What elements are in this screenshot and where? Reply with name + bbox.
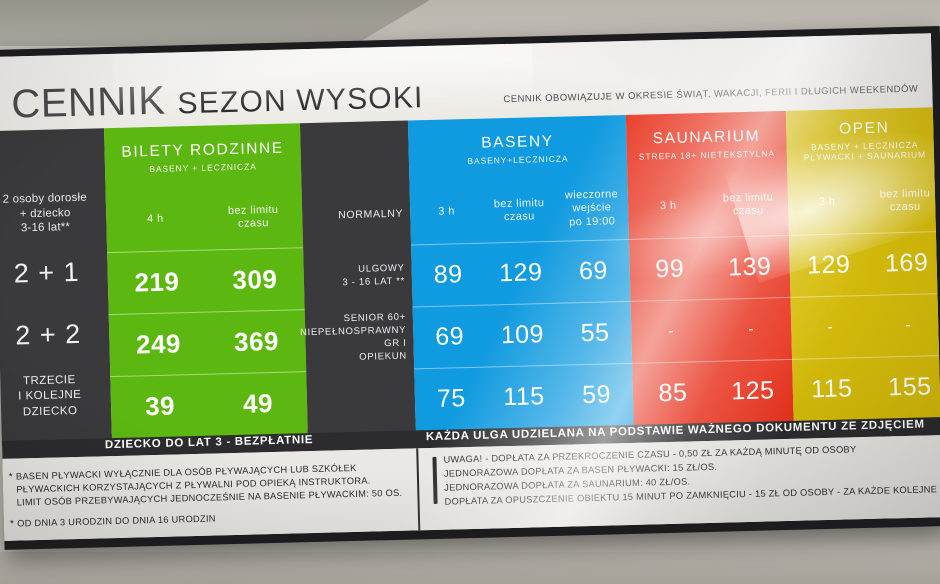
family-row-label-text: TRZECIE I KOLEJNE DZIECKO <box>18 373 82 421</box>
section-open: OPEN BASENY + LECZNICZA PŁYWACKI + SAUNA… <box>786 107 940 421</box>
label-line: NORMALNY <box>338 207 403 223</box>
subcol-line: czasu <box>504 210 535 224</box>
asterisk-icon: * <box>10 517 14 530</box>
price-board-frame: CENNIK SEZON WYSOKI CENNIK OBOWIĄZUJE W … <box>0 26 940 550</box>
label-block: ULGOWY 3 - 16 LAT ** <box>342 263 405 290</box>
price-cell: 129 <box>484 258 557 289</box>
open-title: OPEN <box>839 119 890 138</box>
wall-lower <box>0 552 940 584</box>
subcol-line: wieczorne <box>565 188 618 203</box>
table-row: - - <box>791 293 940 359</box>
subcol-line: wejście <box>572 202 611 216</box>
label-line: 3 - 16 LAT ** <box>342 276 405 289</box>
price-grid: 2 osoby dorosłe + dziecko 3-16 lat** 2 +… <box>0 107 940 437</box>
family-criteria-line-3: 3-16 lat** <box>21 221 71 237</box>
saunarium-price-rows: 99 139 - - 85 125 <box>629 235 794 425</box>
label-line: ULGOWY <box>358 263 405 275</box>
family-row-label-text: 2 + 2 <box>15 318 82 351</box>
family-criteria-header: 2 osoby dorosłe + dziecko 3-16 lat** <box>0 184 103 243</box>
tariff-row-label-ulgowy: ULGOWY 3 - 16 LAT ** <box>303 244 413 309</box>
family-label-box: 2 osoby dorosłe + dziecko 3-16 lat** 2 +… <box>0 184 108 437</box>
price-cell: 219 <box>108 266 207 299</box>
label-line: OPIEKUN <box>359 350 407 362</box>
label-line: GR I <box>384 338 407 350</box>
footnote-text: BASEN PŁYWACKI WYŁĄCZNIE DLA OSÓB PŁYWAJ… <box>16 461 403 510</box>
subcol-line: bez limitu <box>228 203 279 218</box>
footnote-item: * BASEN PŁYWACKI WYŁĄCZNIE DLA OSÓB PŁYW… <box>9 461 410 511</box>
price-cell: 369 <box>207 325 306 358</box>
price-cell: 249 <box>109 328 208 361</box>
table-row: 69 109 55 <box>413 301 632 368</box>
price-cell: 99 <box>629 254 710 285</box>
open-header: OPEN BASENY + LECZNICZA PŁYWACKI + SAUNA… <box>786 107 940 173</box>
validity-note: CENNIK OBOWIĄZUJE W OKRESIE ŚWIĄT, WAKAC… <box>503 84 918 112</box>
saunarium-subcol-unlimited: bez limitu czasu <box>707 173 789 237</box>
saunarium-header: SAUNARIUM STREFA 18+ NIETEKSTYLNA <box>626 111 788 177</box>
saunarium-subcol-3h: 3 h <box>627 175 709 239</box>
tariff-label-column: NORMALNY ULGOWY 3 - 16 LAT ** SENIOR 60+… <box>300 120 416 433</box>
subcol-line: 3 h <box>660 200 677 214</box>
table-row: 99 139 <box>629 235 791 301</box>
price-cell: 55 <box>558 318 631 349</box>
label-line: TRZECIE <box>23 374 76 387</box>
surcharge-list: UWAGA! - DOPŁATA ZA PRZEKROCZENIE CZASU … <box>430 440 940 510</box>
table-row: 89 129 69 <box>411 239 630 306</box>
label-line: SENIOR 60+ <box>344 312 406 325</box>
label-line: I KOLEJNE <box>18 389 82 403</box>
price-cell: 59 <box>560 380 633 411</box>
baseny-subcol-evening: wieczorne wejście po 19:00 <box>555 177 629 241</box>
footnote-line: * OD DNIA 3 URODZIN DO DNIA 16 URODZIN <box>10 507 410 530</box>
price-cell: - <box>711 319 791 339</box>
table-row: 39 49 <box>110 371 308 438</box>
saunarium-subtitle: STREFA 18+ NIETEKSTYLNA <box>639 148 775 161</box>
subcol-line: po 19:00 <box>569 215 615 230</box>
table-row: 129 169 <box>789 231 940 297</box>
family-section-title: BILETY RODZINNE <box>121 139 284 161</box>
open-subtitle-2: PŁYWACKI + SAUNARIUM <box>804 149 927 162</box>
subcol-line: bez limitu <box>494 197 545 212</box>
table-row: 115 155 <box>792 355 940 421</box>
page-subtitle: SEZON WYSOKI <box>177 83 424 120</box>
footnote-item: * OD DNIA 3 URODZIN DO DNIA 16 URODZIN <box>10 507 410 530</box>
family-criteria-line-2: + dziecko <box>20 206 71 222</box>
open-subcol-3h: 3 h <box>787 171 867 235</box>
baseny-subcol-unlimited: bez limitu czasu <box>482 179 556 243</box>
family-row-label-1: 2 + 2 <box>0 302 106 367</box>
baseny-title: BASENY <box>481 132 554 152</box>
family-criteria-line-1: 2 osoby dorosłe <box>2 190 87 207</box>
price-cell: 75 <box>415 384 488 415</box>
footnote-line: * BASEN PŁYWACKI WYŁĄCZNIE DLA OSÓB PŁYW… <box>9 461 410 511</box>
page-title: CENNIK <box>11 81 166 125</box>
price-cell: 129 <box>789 250 868 281</box>
open-subcolumn-header: 3 h bez limitu czasu <box>787 169 940 235</box>
price-cell: 309 <box>206 263 305 296</box>
subcol-line: 3 h <box>819 196 836 210</box>
subcol-line: 4 h <box>147 213 164 227</box>
family-row-label-text: 2 + 1 <box>13 256 80 289</box>
open-price-rows: 129 169 - - 115 155 <box>789 231 940 421</box>
price-cell: 115 <box>487 382 560 413</box>
price-cell: 109 <box>486 320 559 351</box>
baseny-price-rows: 89 129 69 69 109 55 75 115 59 <box>411 239 634 430</box>
family-subcolumn-header: 4 h bez limitu czasu <box>106 185 304 252</box>
family-section-subtitle: BASENY + LECZNICZA <box>149 161 257 174</box>
section-family-tickets: BILETY RODZINNE BASENY + LECZNICZA 4 h b… <box>104 123 308 438</box>
footnotes-left: * BASEN PŁYWACKI WYŁĄCZNIE DLA OSÓB PŁYW… <box>2 448 418 540</box>
price-cell: 69 <box>557 256 630 287</box>
price-cell: - <box>791 317 869 337</box>
surcharge-lines: UWAGA! - DOPŁATA ZA PRZEKROCZENIE CZASU … <box>443 440 940 509</box>
subcol-line: 3 h <box>438 206 455 220</box>
price-cell: 69 <box>413 322 486 353</box>
family-subcol-unlimited: bez limitu czasu <box>204 185 304 249</box>
price-cell: - <box>869 315 940 335</box>
subcol-line: czasu <box>238 217 269 231</box>
price-cell: 139 <box>709 252 790 283</box>
family-label-column: 2 osoby dorosłe + dziecko 3-16 lat** 2 +… <box>0 128 112 441</box>
label-block: SENIOR 60+ NIEPEŁNOSPRAWNY GR I OPIEKUN <box>300 312 407 366</box>
table-row: 219 309 <box>107 247 305 314</box>
baseny-header: BASENY BASENY+LECZNICZA <box>408 115 627 182</box>
subcol-line: czasu <box>733 205 764 219</box>
family-row-label-0: 2 + 1 <box>0 240 104 305</box>
price-cell: 89 <box>411 260 484 291</box>
label-line: NIEPEŁNOSPRAWNY <box>300 325 406 339</box>
subcol-line: bez limitu <box>880 187 931 202</box>
tariff-row-label-normalny: NORMALNY <box>302 182 412 247</box>
subcol-line: czasu <box>890 201 921 215</box>
subcol-line: bez limitu <box>723 191 774 206</box>
label-line: DZIECKO <box>23 405 78 418</box>
tariff-row-label-senior: SENIOR 60+ NIEPEŁNOSPRAWNY GR I OPIEKUN <box>305 306 415 371</box>
section-baseny: BASENY BASENY+LECZNICZA 3 h bez limitu c… <box>408 115 634 430</box>
table-row: - - <box>631 297 793 363</box>
family-price-rows: 219 309 249 369 39 49 <box>107 247 308 438</box>
table-row: 249 369 <box>109 309 307 376</box>
baseny-subcol-3h: 3 h <box>409 181 483 245</box>
asterisk-icon: * <box>9 471 13 484</box>
family-row-label-2: TRZECIE I KOLEJNE DZIECKO <box>0 364 108 429</box>
price-cell: 39 <box>111 390 210 423</box>
price-cell: 155 <box>870 372 940 403</box>
baseny-subtitle: BASENY+LECZNICZA <box>467 153 568 166</box>
footnotes-right: UWAGA! - DOPŁATA ZA PRZEKROCZENIE CZASU … <box>416 434 940 541</box>
tariff-label-spacer <box>300 120 410 185</box>
saunarium-title: SAUNARIUM <box>653 127 761 148</box>
family-subcol-4h: 4 h <box>106 188 206 252</box>
family-section-header: BILETY RODZINNE BASENY + LECZNICZA <box>104 123 302 190</box>
footnote-text: OD DNIA 3 URODZIN DO DNIA 16 URODZIN <box>17 512 216 530</box>
saunarium-subcolumn-header: 3 h bez limitu czasu <box>627 173 789 239</box>
price-cell: 115 <box>793 374 872 405</box>
price-cell: 49 <box>209 387 308 420</box>
table-row: 85 125 <box>632 359 794 425</box>
baseny-subcolumn-header: 3 h bez limitu czasu wieczorne wejście p… <box>409 177 628 244</box>
price-cell: 125 <box>713 376 794 407</box>
table-row: 75 115 59 <box>414 363 633 430</box>
price-cell: 85 <box>633 378 714 409</box>
price-cell: 169 <box>867 248 940 279</box>
section-saunarium: SAUNARIUM STREFA 18+ NIETEKSTYLNA 3 h be… <box>626 111 794 425</box>
bullet-bar-icon <box>432 457 437 504</box>
price-board: CENNIK SEZON WYSOKI CENNIK OBOWIĄZUJE W … <box>0 33 940 541</box>
open-subcol-unlimited: bez limitu czasu <box>865 169 940 233</box>
price-cell: - <box>631 321 711 341</box>
